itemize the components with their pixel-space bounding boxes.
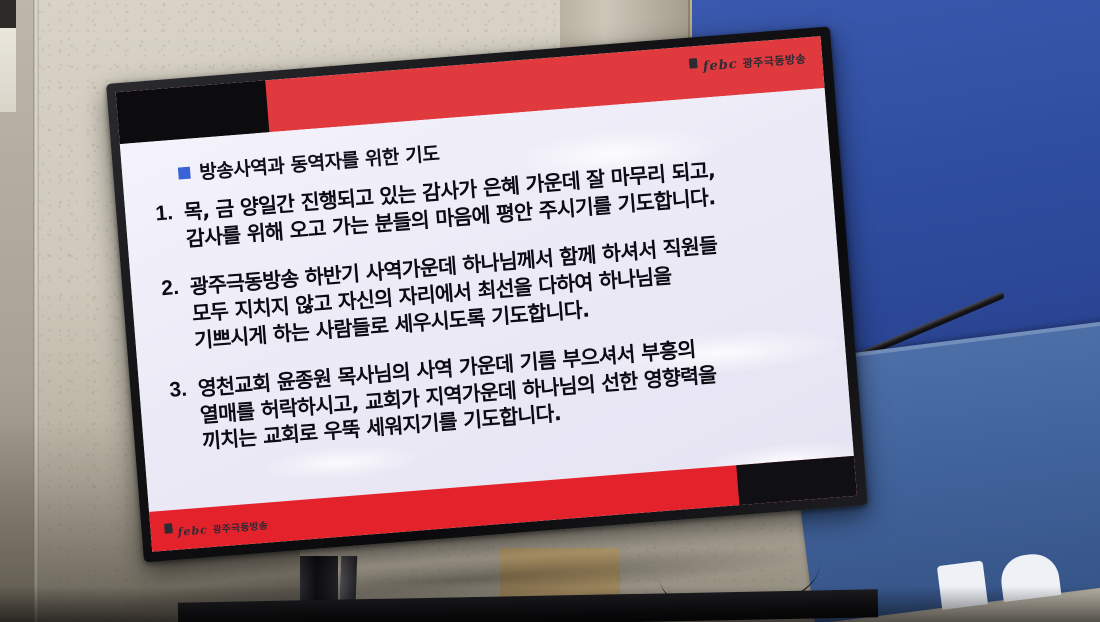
- febc-mark-icon: [689, 58, 698, 69]
- febc-wordmark: febc: [177, 523, 208, 538]
- television[interactable]: febc 광주극동방송 방송사역과 동역자를 위한 기도 1. 목: [106, 26, 868, 562]
- bullet-square-icon: [178, 166, 191, 179]
- photo-scene: 믿음으로 살아가라! e by Faith! febc 광주극동방송: [0, 0, 1100, 622]
- prayer-item-list: 1. 목, 금 양일간 진행되고 있는 감사가 은혜 가운데 잘 마무리 되고,…: [154, 150, 829, 480]
- slide-footer-dark-block: [736, 456, 857, 505]
- febc-wordmark: febc: [702, 56, 738, 74]
- ceiling-corner: [0, 0, 16, 28]
- list-item-text: 광주극동방송 하반기 사역가운데 하나님께서 함께 하셔서 직원들 모두 지치지…: [189, 232, 723, 354]
- tv-screen: febc 광주극동방송 방송사역과 동역자를 위한 기도 1. 목: [116, 36, 857, 552]
- tv-bezel: febc 광주극동방송 방송사역과 동역자를 위한 기도 1. 목: [106, 26, 868, 562]
- foreground-shadow: [0, 586, 1100, 622]
- list-item-text: 영천교회 윤종원 목사님의 사역 가운데 기름 부으셔서 부흥의 열매를 허락하…: [197, 335, 720, 456]
- list-item-number: 1.: [154, 200, 176, 255]
- febc-mark-icon: [164, 523, 173, 534]
- febc-korean-name: 광주극동방송: [212, 518, 268, 536]
